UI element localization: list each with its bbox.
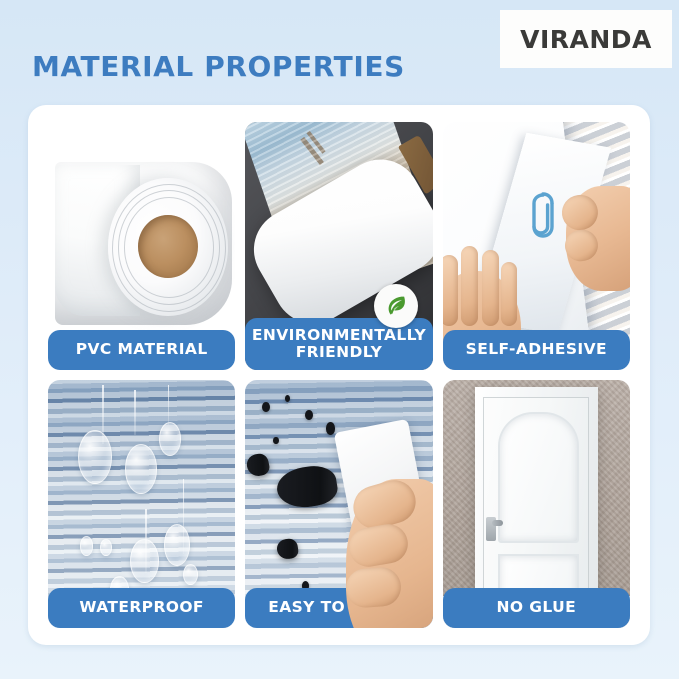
feature-label-pvc-material: PVC MATERIAL	[48, 330, 235, 370]
feature-card-easy-to-clean[interactable]: EASY TO CLEAN	[245, 380, 432, 628]
brand-logo-box: VIRANDA	[500, 10, 672, 68]
page-title: MATERIAL PROPERTIES	[32, 50, 405, 83]
feature-label-self-adhesive: SELF-ADHESIVE	[443, 330, 630, 370]
hand-right	[566, 186, 630, 290]
hand-holding-cloth	[346, 479, 432, 628]
feature-card-no-glue[interactable]: NO GLUE	[443, 380, 630, 628]
features-grid: PVC MATERIAL ENV	[48, 122, 630, 628]
leaf-icon	[374, 284, 418, 328]
feature-card-waterproof[interactable]: WATERPROOF	[48, 380, 235, 628]
feature-label-waterproof: WATERPROOF	[48, 588, 235, 628]
brand-name: VIRANDA	[520, 25, 652, 54]
feature-card-self-adhesive[interactable]: SELF-ADHESIVE	[443, 122, 630, 370]
feature-card-pvc-material[interactable]: PVC MATERIAL	[48, 122, 235, 370]
infographic-page: VIRANDA MATERIAL PROPERTIES	[0, 0, 679, 679]
paperclip-icon	[527, 191, 559, 239]
feature-card-environmentally-friendly[interactable]: ENVIRONMENTALLYFRIENDLY	[245, 122, 432, 370]
features-panel: PVC MATERIAL ENV	[28, 105, 650, 645]
feature-label-no-glue: NO GLUE	[443, 588, 630, 628]
